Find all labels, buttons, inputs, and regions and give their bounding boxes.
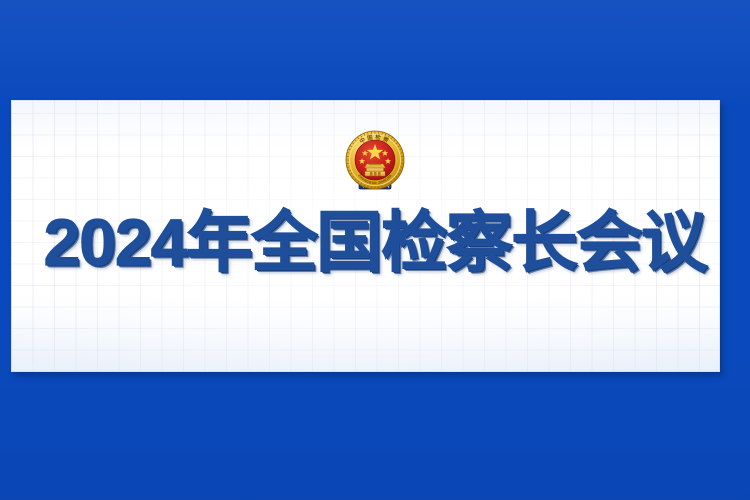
emblem-gate bbox=[365, 164, 386, 176]
poster-canvas: 中国检察 ZHONGGUO JIANCHA 2024年全国检察长会议 bbox=[0, 0, 750, 500]
china-procuratorate-emblem: 中国检察 ZHONGGUO JIANCHA bbox=[337, 127, 413, 195]
page-title: 2024年全国检察长会议 bbox=[0, 206, 750, 278]
